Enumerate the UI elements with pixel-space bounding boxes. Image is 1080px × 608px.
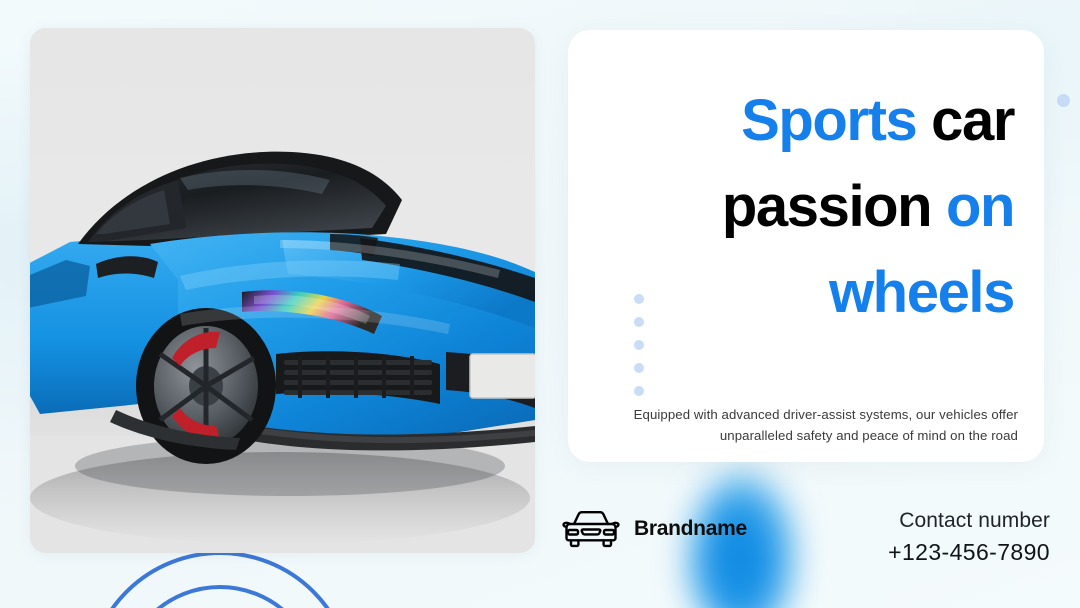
contact-label: Contact number [888,506,1050,536]
car-front-icon [562,508,620,550]
contact-number[interactable]: +123-456-7890 [888,536,1050,568]
hero-car-photo [30,28,535,553]
decorative-dot [634,294,644,304]
headline-word-wheels: wheels [829,260,1014,325]
dot-column-decoration [634,294,644,396]
decorative-dot [634,363,644,373]
contact-block[interactable]: Contact number +123-456-7890 [888,506,1050,568]
brand-name-label: Brandname [634,517,747,541]
decorative-dot [634,317,644,327]
page-title: Sports car passion on wheels [592,78,1014,336]
headline-word-sports: Sports [741,88,916,153]
accent-dot-icon [1057,94,1070,107]
headline-word-on: on [946,174,1014,239]
brand-block[interactable]: Brandname [562,508,747,550]
decorative-dot [634,340,644,350]
decorative-dot [634,386,644,396]
headline-card: Sports car passion on wheels Equipped wi… [568,30,1044,462]
headline-word-car: car [931,88,1014,153]
body-paragraph: Equipped with advanced driver-assist sys… [628,404,1018,446]
headline-word-passion: passion [722,174,931,239]
